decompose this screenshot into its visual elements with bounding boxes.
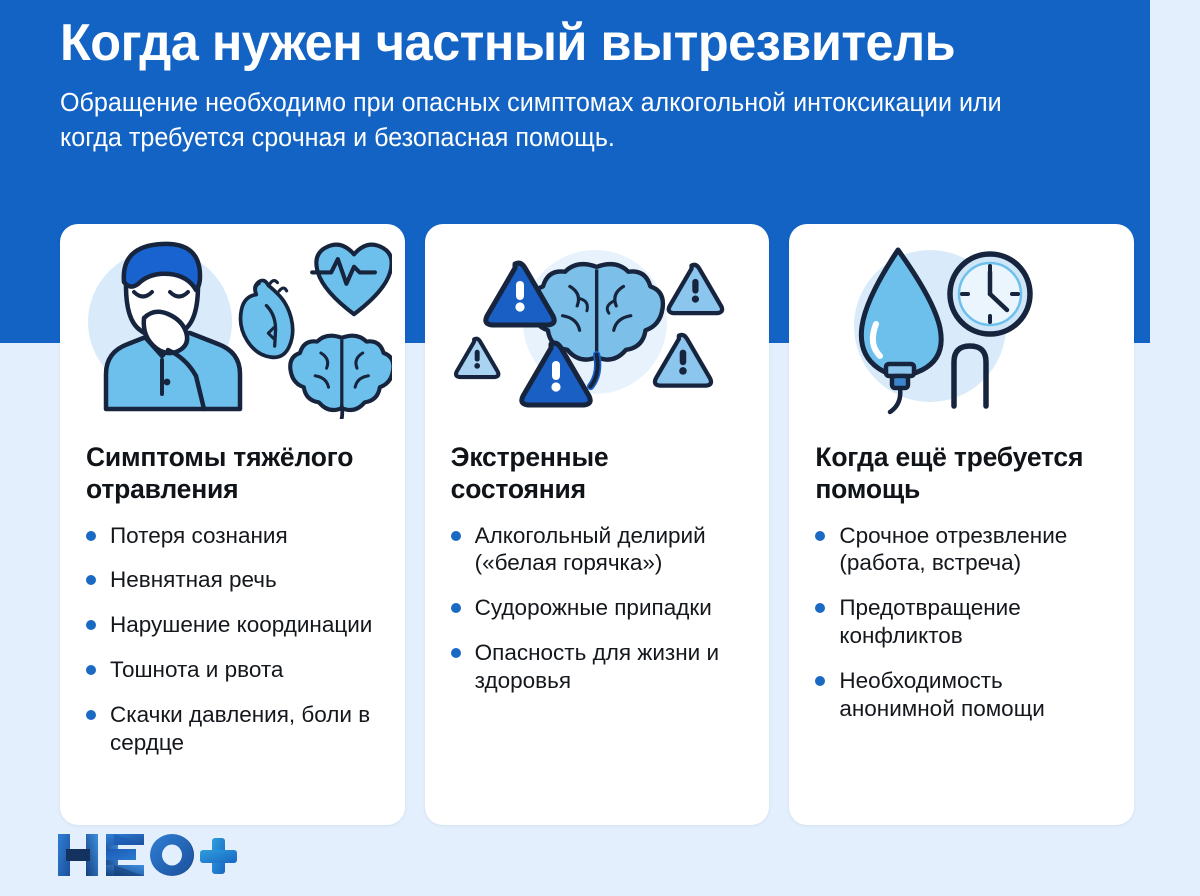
list-item-label: Опасность для жизни и здоровья [475,640,719,693]
bullet-dot [451,648,461,658]
bullet-dot [815,603,825,613]
list-item: Предотвращение конфликтов [815,594,1112,650]
card-3-title: Когда ещё требуется помощь [815,442,1108,506]
logo-letter-e [106,834,144,876]
card-2-illustration [425,234,770,434]
card-1-list: Потеря сознания Невнятная речь Нарушение… [86,522,383,757]
page-title: Когда нужен частный вытрезвитель [60,14,1103,72]
list-item-label: Предотвращение конфликтов [839,595,1020,648]
bullet-dot [86,620,96,630]
card-when-else-help-needed: Когда ещё требуется помощь Срочное отрез… [789,224,1134,825]
list-item-label: Судорожные припадки [475,595,712,620]
list-item: Необходимость анонимной помощи [815,667,1112,723]
anatomical-heart-icon [241,280,293,357]
card-3-list: Срочное отрезвление (работа, встреча) Пр… [815,522,1112,723]
warning-triangle-icon [669,265,722,313]
list-item: Тошнота и рвота [86,656,383,684]
bullet-dot [451,603,461,613]
neo-plus-logo [56,830,256,880]
list-item: Скачки давления, боли в сердце [86,701,383,757]
iv-drip-clock-illustration [802,234,1122,419]
bullet-dot [86,575,96,585]
list-item-label: Потеря сознания [110,523,288,548]
list-item-label: Алкогольный делирий («белая горячка») [475,523,706,576]
card-severe-poisoning: Симптомы тяжёлого отравления Потеря созн… [60,224,405,825]
logo-plus-icon [200,838,237,874]
heartbeat-heart-icon [313,245,392,315]
brain-with-warning-triangles-illustration [437,234,757,419]
list-item: Невнятная речь [86,566,383,594]
page-subtitle: Обращение необходимо при опасных симптом… [60,86,1055,155]
list-item-label: Тошнота и рвота [110,657,283,682]
list-item: Потеря сознания [86,522,383,550]
logo-letter-n [58,834,98,876]
footer [56,828,256,882]
logo-letter-o [150,834,194,876]
bullet-dot [86,710,96,720]
card-1-title: Симптомы тяжёлого отравления [86,442,379,506]
list-item-label: Нарушение координации [110,612,372,637]
list-item: Алкогольный делирий («белая горячка») [451,522,748,578]
card-1-illustration [60,234,405,434]
card-emergency-states: Экстренные состояния Алкогольный делирий… [425,224,770,825]
list-item: Нарушение координации [86,611,383,639]
list-item: Судорожные припадки [451,594,748,622]
list-item: Опасность для жизни и здоровья [451,639,748,695]
list-item: Срочное отрезвление (работа, встреча) [815,522,1112,578]
card-3-illustration [789,234,1134,434]
nauseous-man-heart-brain-illustration [72,234,392,419]
brain-icon [291,336,393,419]
warning-triangle-icon [456,339,498,377]
bullet-dot [815,531,825,541]
list-item-label: Необходимость анонимной помощи [839,668,1044,721]
header-content: Когда нужен частный вытрезвитель Обращен… [60,14,1135,156]
list-item-label: Срочное отрезвление (работа, встреча) [839,523,1067,576]
clock-icon [950,254,1030,334]
card-2-list: Алкогольный делирий («белая горячка») Су… [451,522,748,695]
bullet-dot [86,665,96,675]
infographic-page: Когда нужен частный вытрезвитель Обращен… [0,0,1200,896]
bullet-dot [815,676,825,686]
cards-row: Симптомы тяжёлого отравления Потеря созн… [60,224,1134,825]
list-item-label: Невнятная речь [110,567,277,592]
bullet-dot [86,531,96,541]
bullet-dot [451,531,461,541]
card-2-title: Экстренные состояния [451,442,744,506]
list-item-label: Скачки давления, боли в сердце [110,702,370,755]
